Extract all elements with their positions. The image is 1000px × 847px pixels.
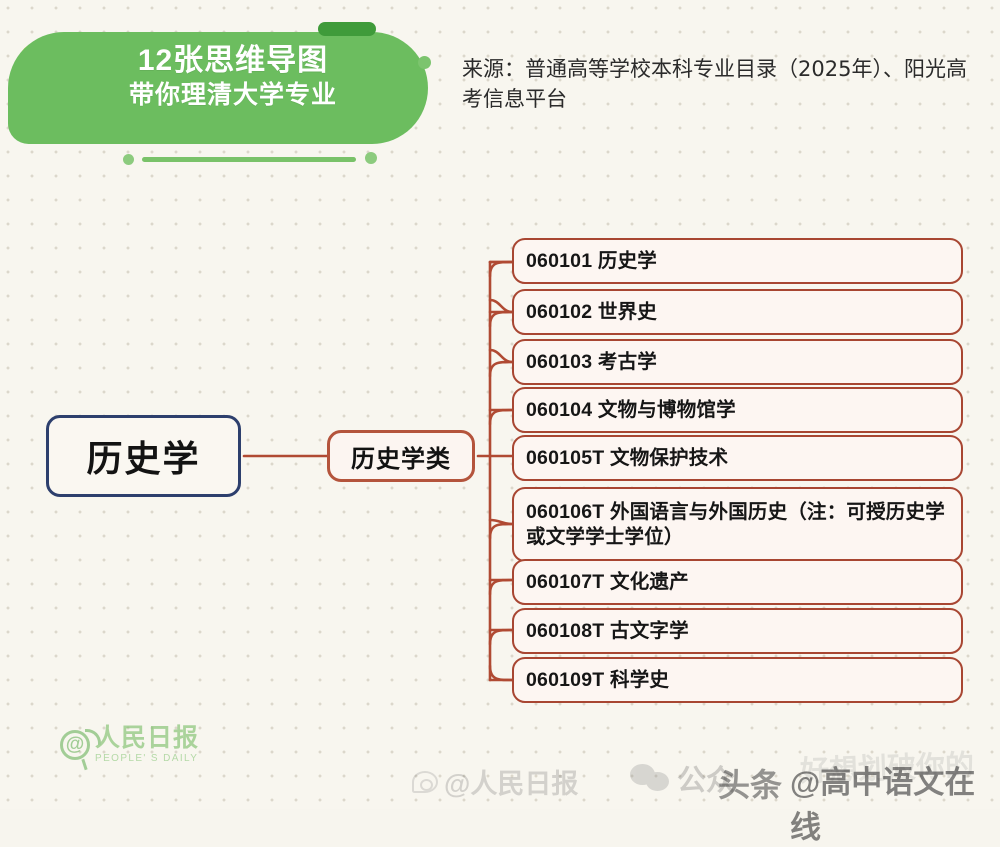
major-node-060101[interactable]: 060101 历史学 bbox=[512, 238, 963, 284]
mindmap-root-node[interactable]: 历史学 bbox=[46, 415, 241, 497]
major-node-060108T[interactable]: 060108T 古文字学 bbox=[512, 608, 963, 654]
mindmap-category-node[interactable]: 历史学类 bbox=[327, 430, 475, 482]
weibo-watermark: @人民日报 bbox=[412, 762, 578, 801]
major-label: 060105T 文物保护技术 bbox=[526, 446, 728, 471]
major-node-060107T[interactable]: 060107T 文化遗产 bbox=[512, 559, 963, 605]
major-label: 060104 文物与博物馆学 bbox=[526, 398, 736, 423]
peoples-daily-wordmark: 人民日报 PEOPLE' S DAILY bbox=[95, 726, 199, 764]
major-node-060103[interactable]: 060103 考古学 bbox=[512, 339, 963, 385]
root-node-label: 历史学 bbox=[86, 430, 200, 482]
major-label: 060103 考古学 bbox=[526, 350, 657, 375]
major-label: 060106T 外国语言与外国历史（注：可授历史学或文学学士学位） bbox=[526, 500, 949, 550]
mindmap: 历史学 历史学类 060101 历史学 060102 世界史 060103 考古… bbox=[0, 0, 1000, 809]
peoples-daily-logo: 人民日报 PEOPLE' S DAILY bbox=[60, 726, 199, 764]
at-symbol-icon bbox=[60, 730, 90, 760]
major-label: 060109T 科学史 bbox=[526, 668, 669, 693]
toutiao-watermark: 头条 bbox=[718, 760, 782, 806]
peoples-daily-cn: 人民日报 bbox=[95, 726, 199, 751]
major-node-060109T[interactable]: 060109T 科学史 bbox=[512, 657, 963, 703]
peoples-daily-en: PEOPLE' S DAILY bbox=[95, 753, 199, 764]
major-label: 060102 世界史 bbox=[526, 300, 657, 325]
major-label: 060107T 文化遗产 bbox=[526, 570, 689, 595]
wechat-icon bbox=[630, 764, 670, 792]
category-node-label: 历史学类 bbox=[351, 439, 451, 474]
major-node-060102[interactable]: 060102 世界史 bbox=[512, 289, 963, 335]
major-node-060104[interactable]: 060104 文物与博物馆学 bbox=[512, 387, 963, 433]
weibo-watermark-label: @人民日报 bbox=[444, 762, 578, 801]
major-node-060106T[interactable]: 060106T 外国语言与外国历史（注：可授历史学或文学学士学位） bbox=[512, 487, 963, 562]
weibo-icon bbox=[412, 771, 438, 793]
major-label: 060108T 古文字学 bbox=[526, 619, 689, 644]
account-watermark: @高中语文在线 bbox=[790, 757, 1000, 847]
major-label: 060101 历史学 bbox=[526, 249, 657, 274]
major-node-060105T[interactable]: 060105T 文物保护技术 bbox=[512, 435, 963, 481]
